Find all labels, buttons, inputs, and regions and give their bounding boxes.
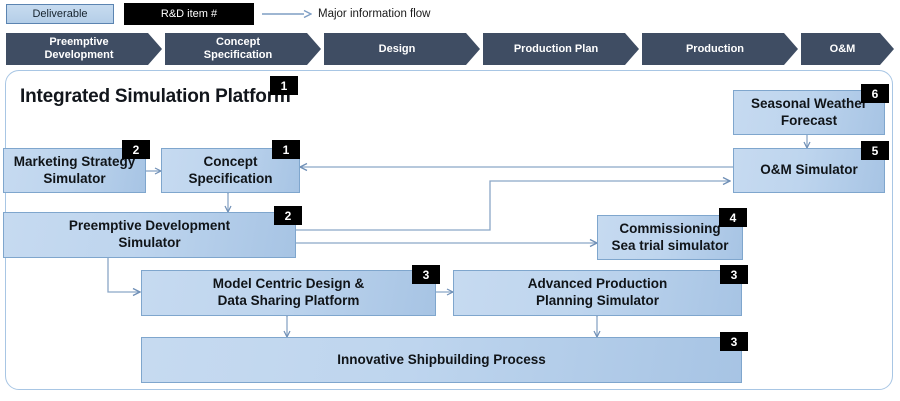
node-label-line2: Specification: [188, 171, 272, 188]
legend-flow-label: Major information flow: [318, 8, 430, 20]
phase-chevron-om[interactable]: O&M: [801, 33, 894, 65]
badge-om-simulator: 5: [861, 141, 889, 160]
badge-seasonal-weather-forecast: 6: [861, 84, 889, 103]
node-label-line1: Innovative Shipbuilding Process: [337, 352, 546, 369]
legend-flow-arrow-icon: [262, 9, 312, 19]
phase-label-line1: O&M: [830, 43, 856, 56]
phase-label-line1: Production: [686, 43, 744, 56]
phase-label-line1: Production Plan: [514, 43, 598, 56]
node-label-line1: Marketing Strategy: [14, 154, 136, 171]
phase-chevron-production-plan[interactable]: Production Plan: [483, 33, 639, 65]
node-label-line2: Data Sharing Platform: [213, 293, 365, 310]
phase-chevron-design[interactable]: Design: [324, 33, 480, 65]
badge-marketing-strategy-simulator: 2: [122, 140, 150, 159]
phase-label-line2: Development: [44, 49, 113, 62]
node-preemptive-development-simulator[interactable]: Preemptive Development Simulator: [3, 212, 296, 258]
page-title: Integrated Simulation Platform: [20, 86, 291, 108]
node-label-line1: Commissioning: [611, 221, 728, 238]
legend-deliverable-label: Deliverable: [32, 8, 87, 20]
node-label-line2: Sea trial simulator: [611, 238, 728, 255]
node-label-line1: Seasonal Weather: [751, 96, 867, 113]
phase-label-line1: Design: [379, 43, 416, 56]
node-model-centric-design-data-sharing-platform[interactable]: Model Centric Design & Data Sharing Plat…: [141, 270, 436, 316]
legend: Deliverable R&D item # Major information…: [0, 0, 900, 30]
node-label-line1: O&M Simulator: [760, 162, 858, 179]
node-label-line1: Preemptive Development: [69, 218, 230, 235]
node-label-line1: Concept: [188, 154, 272, 171]
badge-model-centric-design: 3: [412, 265, 440, 284]
node-label-line1: Model Centric Design &: [213, 276, 365, 293]
node-label-line2: Simulator: [14, 171, 136, 188]
node-advanced-production-planning-simulator[interactable]: Advanced Production Planning Simulator: [453, 270, 742, 316]
phase-label-line2: Specification: [204, 49, 272, 62]
node-label-line2: Planning Simulator: [528, 293, 668, 310]
badge-concept-specification: 1: [272, 140, 300, 159]
legend-deliverable-swatch: Deliverable: [6, 4, 114, 24]
node-label-line1: Advanced Production: [528, 276, 668, 293]
badge-advanced-production-planning-simulator: 3: [720, 265, 748, 284]
phase-chevron-concept-specification[interactable]: Concept Specification: [165, 33, 321, 65]
badge-preemptive-development-simulator: 2: [274, 206, 302, 225]
node-innovative-shipbuilding-process[interactable]: Innovative Shipbuilding Process: [141, 337, 742, 383]
legend-rd-item-swatch: R&D item #: [124, 3, 254, 25]
phase-label-line1: Concept: [204, 36, 272, 49]
badge-platform-title: 1: [270, 76, 298, 95]
phase-chevron-preemptive-development[interactable]: Preemptive Development: [6, 33, 162, 65]
badge-commissioning-sea-trial-simulator: 4: [719, 208, 747, 227]
node-label-line2: Simulator: [69, 235, 230, 252]
diagram-canvas: Deliverable R&D item # Major information…: [0, 0, 900, 401]
phase-label-line1: Preemptive: [44, 36, 113, 49]
phase-bar: Preemptive Development Concept Specifica…: [6, 33, 894, 65]
node-label-line2: Forecast: [751, 113, 867, 130]
phase-chevron-production[interactable]: Production: [642, 33, 798, 65]
legend-flow-entry: Major information flow: [262, 3, 430, 25]
badge-innovative-shipbuilding-process: 3: [720, 332, 748, 351]
legend-rd-item-label: R&D item #: [161, 8, 217, 20]
